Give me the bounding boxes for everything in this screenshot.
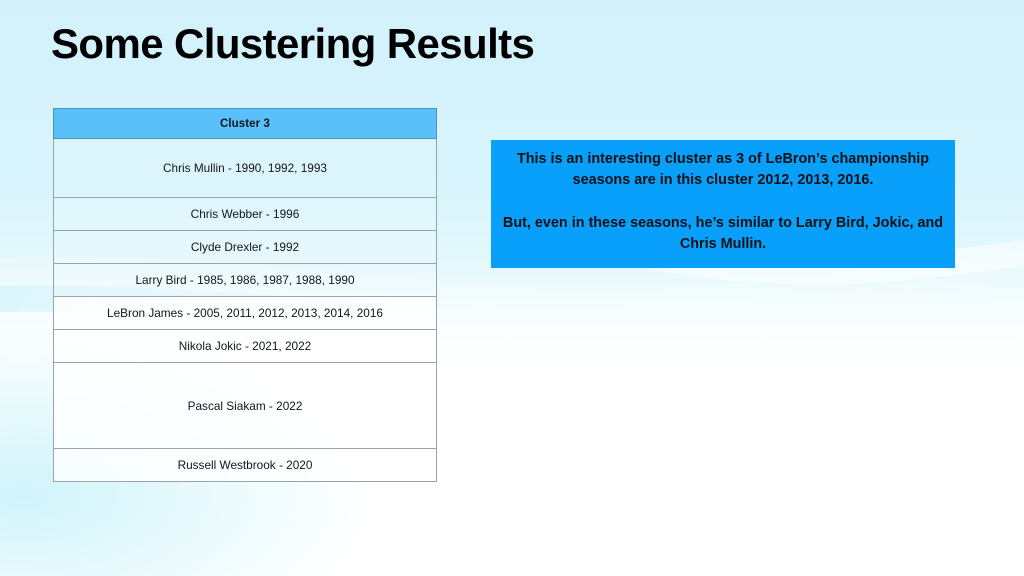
slide-canvas: Some Clustering Results Cluster 3 Chris … bbox=[0, 0, 1024, 576]
table-row: Nikola Jokic - 2021, 2022 bbox=[54, 330, 437, 363]
cell-player-entry: Pascal Siakam - 2022 bbox=[54, 363, 437, 449]
cell-player-entry: Nikola Jokic - 2021, 2022 bbox=[54, 330, 437, 363]
table-row: LeBron James - 2005, 2011, 2012, 2013, 2… bbox=[54, 297, 437, 330]
column-header-cluster-3: Cluster 3 bbox=[54, 109, 437, 139]
cluster-3-table: Cluster 3 Chris Mullin - 1990, 1992, 199… bbox=[53, 108, 437, 482]
cell-player-entry: LeBron James - 2005, 2011, 2012, 2013, 2… bbox=[54, 297, 437, 330]
table-row: Pascal Siakam - 2022 bbox=[54, 363, 437, 449]
cell-player-entry: Chris Mullin - 1990, 1992, 1993 bbox=[54, 139, 437, 198]
callout-paragraph-1: This is an interesting cluster as 3 of L… bbox=[501, 149, 945, 192]
table-row: Chris Mullin - 1990, 1992, 1993 bbox=[54, 139, 437, 198]
table-row: Larry Bird - 1985, 1986, 1987, 1988, 199… bbox=[54, 264, 437, 297]
cell-player-entry: Russell Westbrook - 2020 bbox=[54, 449, 437, 482]
cluster-commentary-callout: This is an interesting cluster as 3 of L… bbox=[491, 140, 955, 268]
callout-paragraph-2: But, even in these seasons, he’s similar… bbox=[501, 213, 945, 256]
table-body: Chris Mullin - 1990, 1992, 1993 Chris We… bbox=[54, 139, 437, 482]
cell-player-entry: Chris Webber - 1996 bbox=[54, 198, 437, 231]
cell-player-entry: Clyde Drexler - 1992 bbox=[54, 231, 437, 264]
page-title: Some Clustering Results bbox=[51, 21, 534, 67]
cell-player-entry: Larry Bird - 1985, 1986, 1987, 1988, 199… bbox=[54, 264, 437, 297]
table-row: Clyde Drexler - 1992 bbox=[54, 231, 437, 264]
table-row: Chris Webber - 1996 bbox=[54, 198, 437, 231]
table-head: Cluster 3 bbox=[54, 109, 437, 139]
table-header-row: Cluster 3 bbox=[54, 109, 437, 139]
table-row: Russell Westbrook - 2020 bbox=[54, 449, 437, 482]
